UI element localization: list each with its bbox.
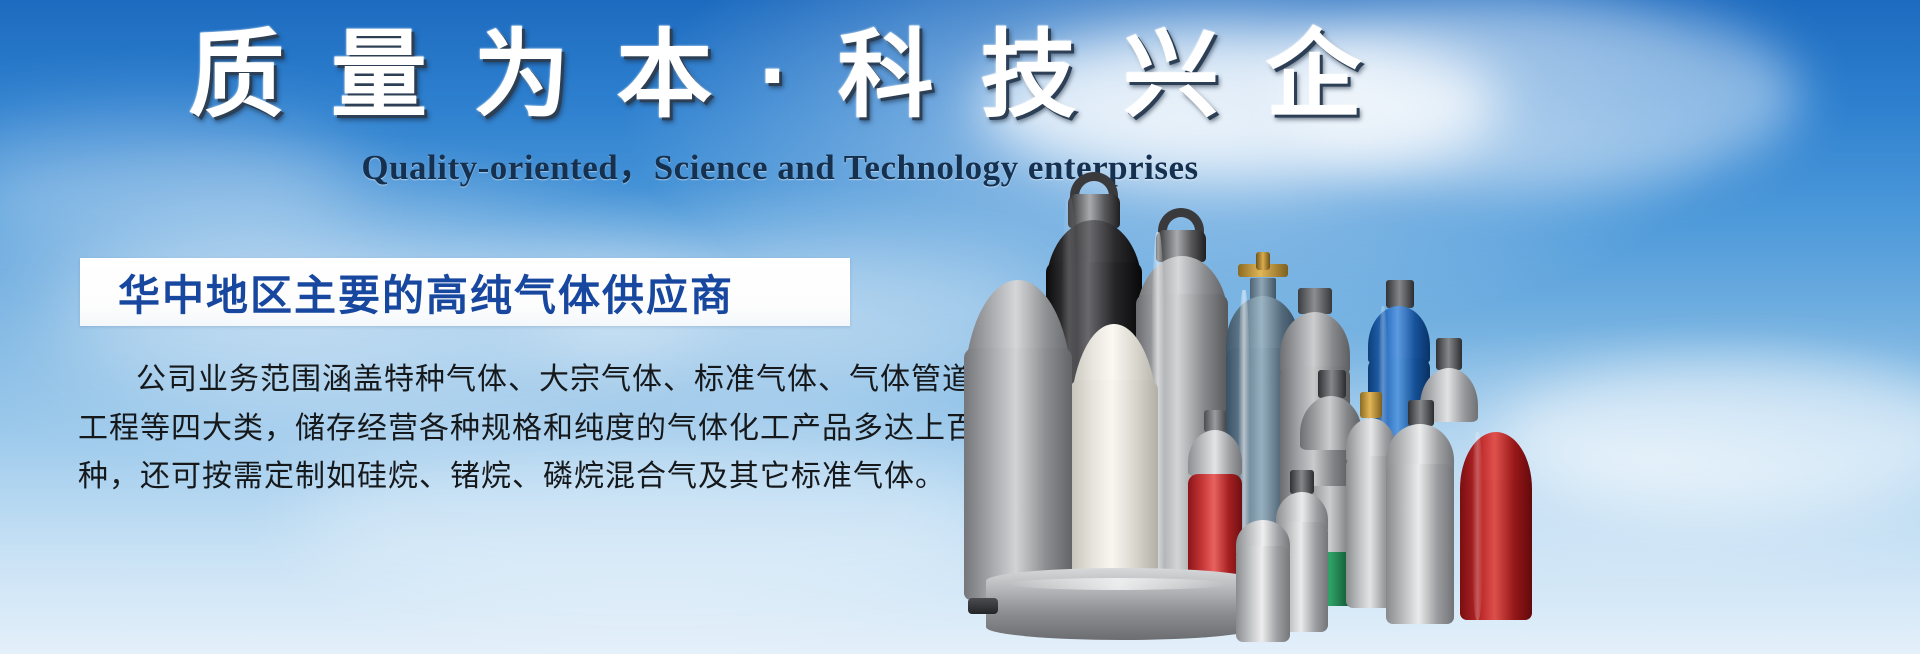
highlight-bar: 华中地区主要的高纯气体供应商 xyxy=(80,258,850,326)
cylinder-highlight xyxy=(1472,432,1484,620)
gas-cylinder-group-image xyxy=(950,0,1920,654)
cylinder-valve-stem xyxy=(1256,252,1270,270)
hero-banner: 质 量 为 本 · 科 技 兴 企 Quality-oriented，Scien… xyxy=(0,0,1920,654)
cylinder-valve xyxy=(1386,280,1414,308)
banner-paragraph: 公司业务范围涵盖特种气体、大宗气体、标准气体、气体管道 工程等四大类，储存经营各… xyxy=(78,356,868,502)
red-aluminium-cylinder xyxy=(1460,432,1532,620)
cylinder-body xyxy=(1386,464,1454,624)
paragraph-line: 种，还可按需定制如硅烷、锗烷、磷烷混合气及其它标准气体。 xyxy=(78,453,868,502)
cylinder-valve xyxy=(1290,470,1314,494)
grey-dome-cylinder xyxy=(964,280,1072,600)
tank-highlight xyxy=(1008,578,1228,590)
cylinder-valve xyxy=(1436,338,1462,370)
tank-valve xyxy=(968,598,998,614)
cylinder-body xyxy=(1236,546,1290,642)
foreground-aluminium-cylinder xyxy=(1236,520,1290,642)
horizontal-gas-tank xyxy=(968,564,1268,644)
paragraph-line: 工程等四大类，储存经营各种规格和纯度的气体化工产品多达上百 xyxy=(78,405,868,454)
cylinder-dome xyxy=(1280,312,1350,374)
cylinder-body xyxy=(964,348,1072,600)
paragraph-line: 公司业务范围涵盖特种气体、大宗气体、标准气体、气体管道 xyxy=(78,356,868,405)
cylinder-valve xyxy=(1298,288,1332,314)
cylinder-valve xyxy=(1204,410,1226,432)
cylinder-valve xyxy=(1360,392,1382,418)
big-aluminium-cylinder xyxy=(1386,424,1454,624)
cylinder-valve xyxy=(1408,400,1434,426)
cylinder-dome xyxy=(1368,306,1430,364)
cylinder-valve xyxy=(1318,370,1346,398)
cylinder-body xyxy=(1460,480,1532,620)
highlight-bar-text: 华中地区主要的高纯气体供应商 xyxy=(80,262,734,323)
